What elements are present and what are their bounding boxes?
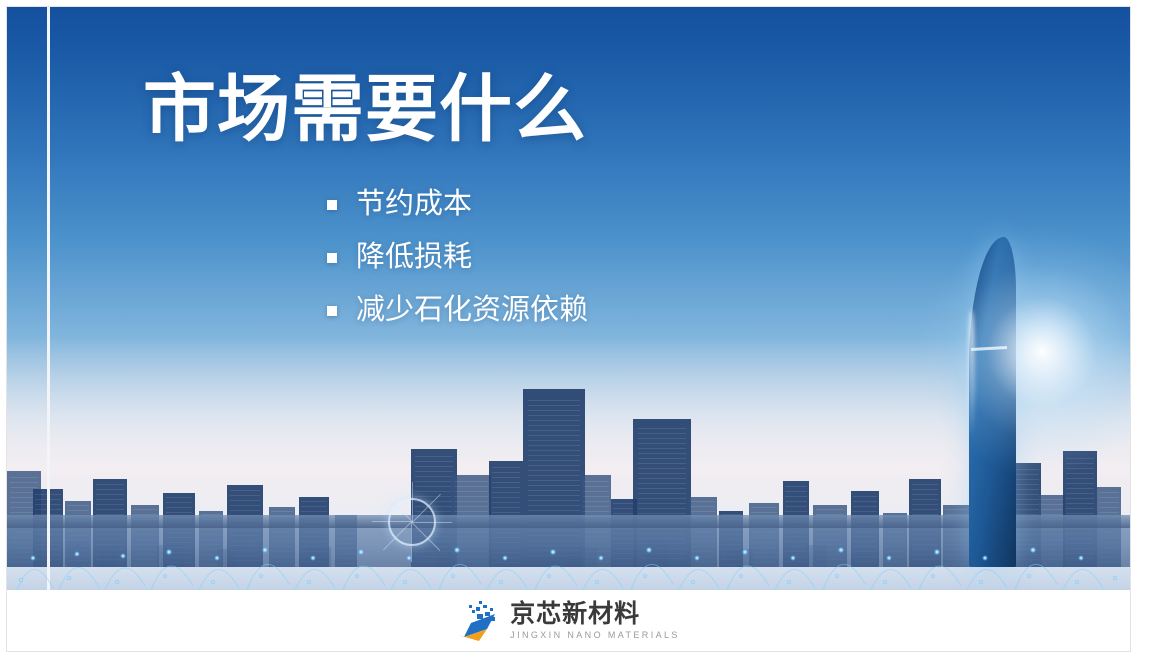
company-logo: 京芯新材料 JINGXIN NANO MATERIALS [457, 601, 680, 641]
bullet-square-icon [327, 200, 337, 210]
logo-name-cn: 京芯新材料 [510, 602, 680, 627]
logo-mark-icon [457, 601, 501, 641]
tower-highlight [968, 310, 975, 440]
page-title: 市场需要什么 [143, 73, 587, 147]
bullet-label: 节约成本 [356, 190, 472, 219]
slide-canvas: 市场需要什么 节约成本 降低损耗 减少石化资源依赖 [7, 7, 1130, 651]
slide-footer: 京芯新材料 JINGXIN NANO MATERIALS [7, 590, 1130, 651]
list-item: 减少石化资源依赖 [327, 296, 588, 325]
list-item: 降低损耗 [327, 243, 588, 272]
bullet-label: 减少石化资源依赖 [356, 296, 588, 325]
bullet-square-icon [327, 306, 337, 316]
hero-cityscape-image: 市场需要什么 节约成本 降低损耗 减少石化资源依赖 [7, 7, 1130, 590]
vertical-accent-divider [47, 7, 50, 590]
landmark-tower [969, 237, 1016, 567]
bullet-label: 降低损耗 [356, 243, 472, 272]
slide-frame: 市场需要什么 节约成本 降低损耗 减少石化资源依赖 [0, 0, 1159, 659]
logo-text: 京芯新材料 JINGXIN NANO MATERIALS [510, 602, 680, 640]
logo-name-en: JINGXIN NANO MATERIALS [510, 631, 680, 640]
light-network-overlay [7, 520, 1130, 590]
list-item: 节约成本 [327, 190, 588, 219]
bullet-list: 节约成本 降低损耗 减少石化资源依赖 [327, 190, 588, 349]
bullet-square-icon [327, 253, 337, 263]
